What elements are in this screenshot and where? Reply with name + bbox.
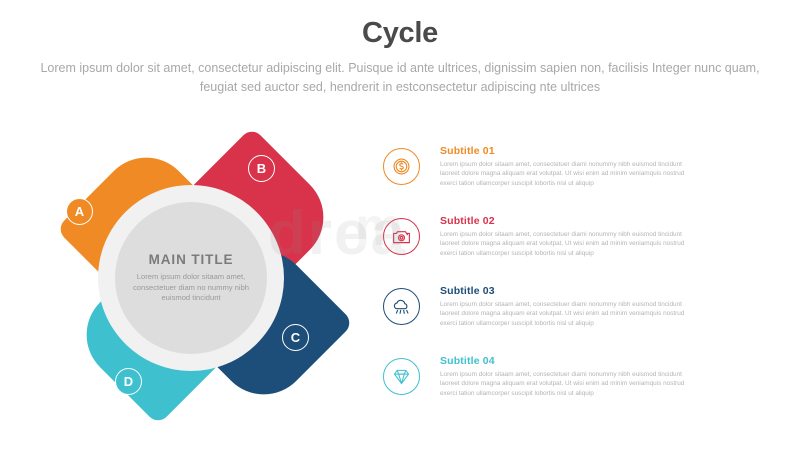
center-title: MAIN TITLE xyxy=(149,252,234,267)
cycle-diagram: MAIN TITLE Lorem ipsum dolor sitaam amet… xyxy=(45,128,365,418)
list-item[interactable]: Subtitle 02 Lorem ipsum dolor sitaam ame… xyxy=(383,214,693,284)
list-item-body: Subtitle 03 Lorem ipsum dolor sitaam ame… xyxy=(440,284,693,328)
page-title: Cycle xyxy=(0,18,800,50)
item-list: Subtitle 01 Lorem ipsum dolor sitaam ame… xyxy=(383,144,693,424)
cloud-rain-icon xyxy=(383,288,420,325)
list-item-subtitle: Subtitle 02 xyxy=(440,215,693,227)
badge-c[interactable]: C xyxy=(282,324,309,351)
list-item-text: Lorem ipsum dolor sitaam amet, consectet… xyxy=(440,160,688,188)
list-item-text: Lorem ipsum dolor sitaam amet, consectet… xyxy=(440,230,688,258)
badge-a[interactable]: A xyxy=(66,198,93,225)
page-description: Lorem ipsum dolor sit amet, consectetur … xyxy=(35,59,765,97)
list-item-text: Lorem ipsum dolor sitaam amet, consectet… xyxy=(440,300,688,328)
list-item-text: Lorem ipsum dolor sitaam amet, consectet… xyxy=(440,370,688,398)
diamond-icon xyxy=(383,358,420,395)
list-item-body: Subtitle 04 Lorem ipsum dolor sitaam ame… xyxy=(440,354,693,398)
badge-b[interactable]: B xyxy=(248,155,275,182)
header: Cycle Lorem ipsum dolor sit amet, consec… xyxy=(0,18,800,97)
camera-icon xyxy=(383,218,420,255)
coin-dollar-icon xyxy=(383,148,420,185)
list-item-subtitle: Subtitle 03 xyxy=(440,285,693,297)
list-item[interactable]: Subtitle 03 Lorem ipsum dolor sitaam ame… xyxy=(383,284,693,354)
center-circle: MAIN TITLE Lorem ipsum dolor sitaam amet… xyxy=(98,185,284,371)
list-item[interactable]: Subtitle 01 Lorem ipsum dolor sitaam ame… xyxy=(383,144,693,214)
list-item-body: Subtitle 01 Lorem ipsum dolor sitaam ame… xyxy=(440,144,693,188)
center-circle-inner: MAIN TITLE Lorem ipsum dolor sitaam amet… xyxy=(115,202,267,354)
list-item-subtitle: Subtitle 01 xyxy=(440,145,693,157)
list-item-subtitle: Subtitle 04 xyxy=(440,355,693,367)
list-item[interactable]: Subtitle 04 Lorem ipsum dolor sitaam ame… xyxy=(383,354,693,424)
badge-d[interactable]: D xyxy=(115,368,142,395)
list-item-body: Subtitle 02 Lorem ipsum dolor sitaam ame… xyxy=(440,214,693,258)
center-description: Lorem ipsum dolor sitaam amet, consectet… xyxy=(132,272,250,304)
